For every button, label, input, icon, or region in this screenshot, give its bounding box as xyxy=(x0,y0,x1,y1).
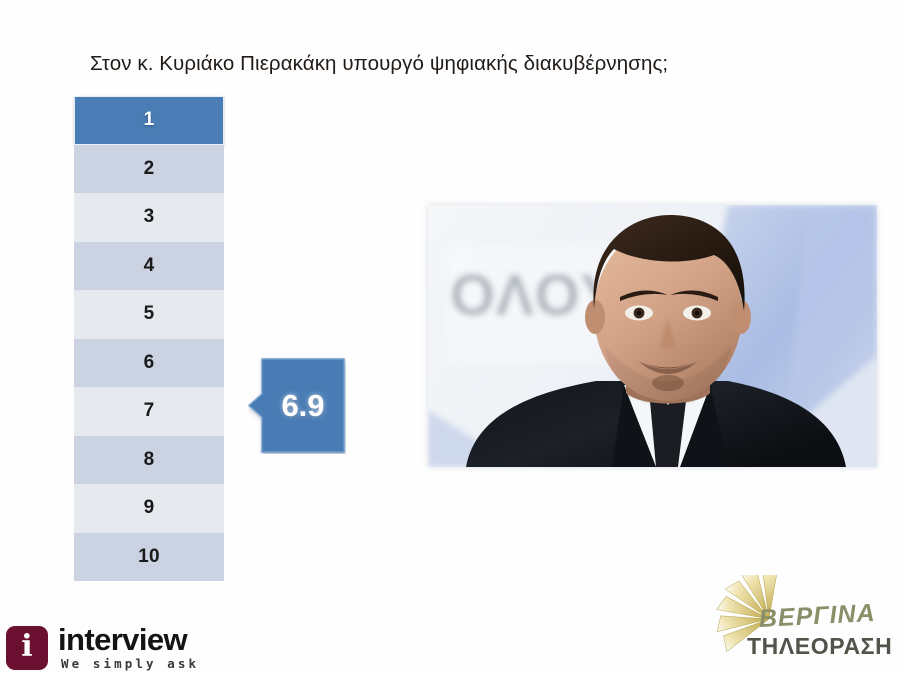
vergina-subtitle: ΤΗΛΕΟΡΑΣΗ xyxy=(747,633,892,660)
scale-row-9[interactable]: 9 xyxy=(74,484,224,533)
scale-row-10[interactable]: 10 xyxy=(74,533,224,582)
scale-row-6[interactable]: 6 xyxy=(74,339,224,388)
scale-row-8[interactable]: 8 xyxy=(74,436,224,485)
interview-tagline: We simply ask xyxy=(61,656,199,671)
vergina-tv-logo: ΒΕΡΓΙΝΑ ΤΗΛΕΟΡΑΣΗ xyxy=(705,575,895,670)
scale-row-4[interactable]: 4 xyxy=(74,242,224,291)
rating-scale: 12345678910 xyxy=(74,96,224,581)
interview-mark-letter: i xyxy=(6,626,48,670)
score-value: 6.9 xyxy=(248,357,346,454)
vergina-name: ΒΕΡΓΙΝΑ xyxy=(758,599,876,634)
scale-row-2[interactable]: 2 xyxy=(74,145,224,194)
interview-wordmark: interview xyxy=(58,624,187,657)
scale-row-7[interactable]: 7 xyxy=(74,387,224,436)
portrait-photo: ΟΛΟΥΣ xyxy=(428,205,877,467)
scale-row-3[interactable]: 3 xyxy=(74,193,224,242)
scale-row-1[interactable]: 1 xyxy=(74,96,224,145)
presentation-slide: Στον κ. Κυριάκο Πιερακάκη υπουργό ψηφιακ… xyxy=(0,0,900,675)
page-title: Στον κ. Κυριάκο Πιερακάκη υπουργό ψηφιακ… xyxy=(90,52,830,76)
interview-logo: i interview We simply ask xyxy=(4,622,219,674)
scale-row-5[interactable]: 5 xyxy=(74,290,224,339)
interview-info-icon: i xyxy=(6,626,48,670)
score-callout: 6.9 xyxy=(248,357,346,454)
portrait-photo-image: ΟΛΟΥΣ xyxy=(428,205,877,467)
